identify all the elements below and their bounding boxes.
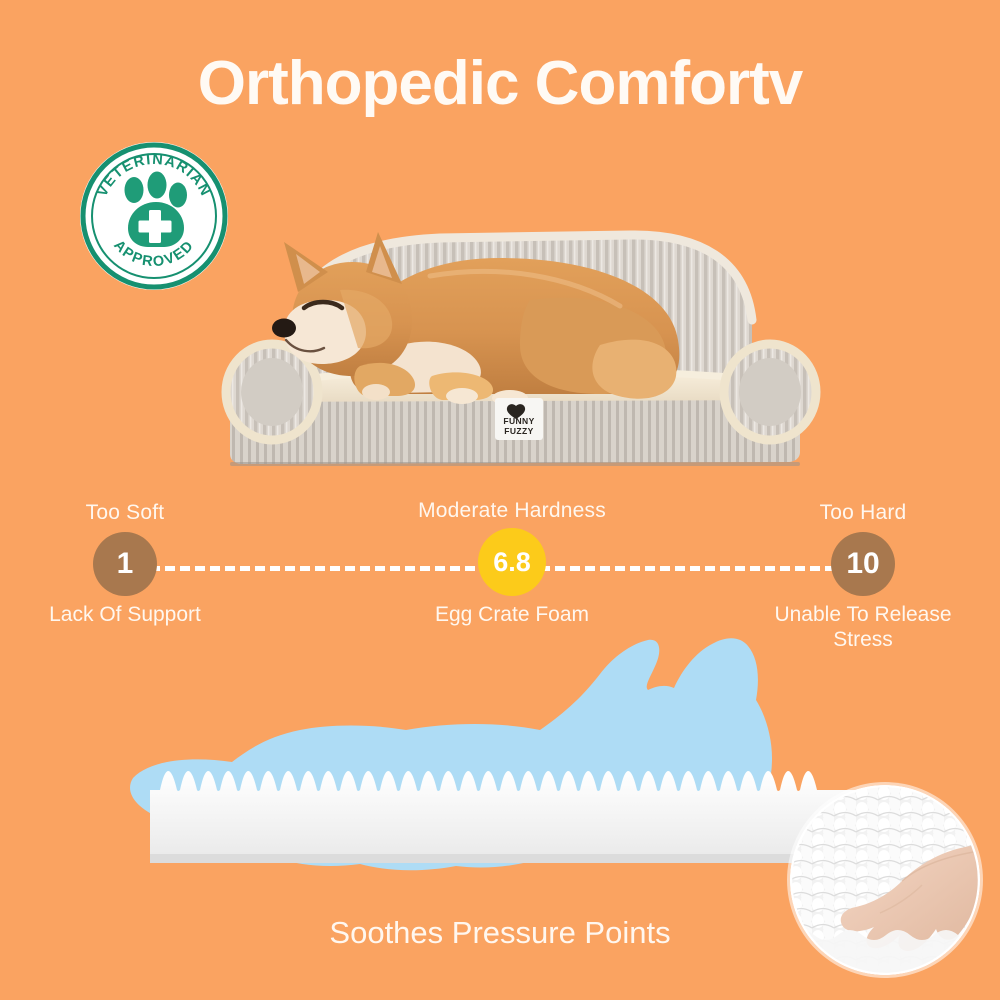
marker-value-bubble: 10 — [831, 532, 895, 596]
product-photo-dog-on-bed: FUNNY FUZZY — [200, 180, 840, 470]
marker-sublabel: Lack Of Support — [5, 602, 245, 627]
marker-caption: Moderate Hardness — [392, 498, 632, 524]
marker-value-bubble: 6.8 — [478, 528, 546, 596]
brand-label: FUNNY FUZZY — [495, 398, 543, 440]
marker-sublabel: Egg Crate Foam — [392, 602, 632, 627]
marker-value-bubble: 1 — [93, 532, 157, 596]
marker-caption: Too Soft — [5, 500, 245, 526]
scale-marker-too-soft: Too Soft 1 Lack Of Support — [5, 500, 245, 627]
page-title: Orthopedic Comfortv — [0, 48, 1000, 119]
infographic-canvas: Orthopedic Comfortv VETERINARIAN APPROVE… — [0, 0, 1000, 1000]
marker-caption: Too Hard — [743, 500, 983, 526]
svg-text:FUNNY: FUNNY — [503, 416, 534, 426]
svg-text:FUZZY: FUZZY — [504, 426, 533, 436]
footer-caption: Soothes Pressure Points — [0, 915, 1000, 951]
scale-marker-moderate: Moderate Hardness 6.8 Egg Crate Foam — [392, 498, 632, 627]
right-bolster — [724, 344, 816, 440]
